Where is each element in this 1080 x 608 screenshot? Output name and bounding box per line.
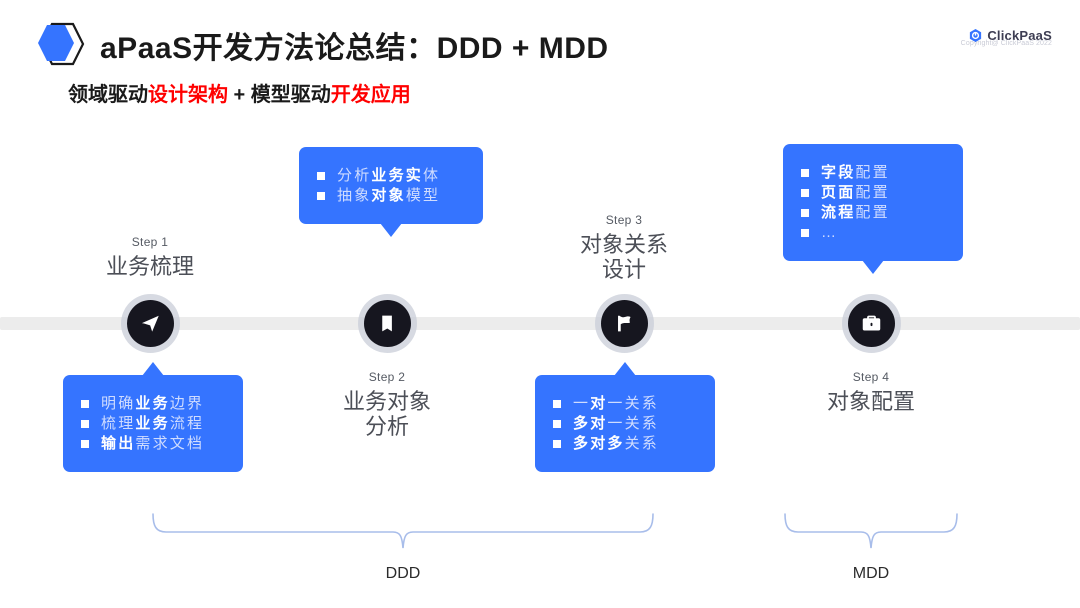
paper-plane-icon: [140, 313, 161, 334]
bullet-icon: [81, 400, 89, 408]
step-title-step-2-line2: 分析: [287, 414, 487, 439]
slide-canvas: aPaaS开发方法论总结：DDD + MDD 领域驱动设计架构 + 模型驱动开发…: [0, 0, 1080, 608]
timeline-node-step-4[interactable]: [848, 300, 895, 347]
bullet-icon: [553, 400, 561, 408]
callout-item: 输出需求文档: [81, 436, 223, 451]
step-title-step-2-line1: 业务对象: [287, 389, 487, 414]
step-title-step-3: 对象关系 设计: [524, 232, 724, 283]
step-title-step-3-line1: 对象关系: [524, 232, 724, 257]
bullet-icon: [801, 229, 809, 237]
bullet-icon: [317, 172, 325, 180]
callout-step-2[interactable]: 分析业务实体 抽象对象模型: [299, 147, 483, 224]
callout-item: 明确业务边界: [81, 396, 223, 411]
callout-text: 多对一关系: [573, 416, 659, 431]
step-number-step-1: Step 1: [50, 235, 250, 249]
callout-step-3[interactable]: 一对一关系 多对一关系 多对多关系: [535, 375, 715, 472]
callout-text: 一对一关系: [573, 396, 659, 411]
step-label-step-1: Step 1 业务梳理: [50, 235, 250, 279]
bullet-icon: [81, 420, 89, 428]
subtitle-part-1: 设计架构: [148, 84, 228, 106]
bullet-icon: [317, 192, 325, 200]
step-label-step-4: Step 4 对象配置: [771, 370, 971, 414]
callout-text: 明确业务边界: [101, 396, 204, 411]
brand-copyright: Copyright@ ClickPaaS 2022: [961, 40, 1052, 47]
callout-step-4[interactable]: 字段配置 页面配置 流程配置 …: [783, 144, 963, 261]
callout-text: 抽象对象模型: [337, 188, 440, 203]
callout-text: 输出需求文档: [101, 436, 204, 451]
callout-item: 梳理业务流程: [81, 416, 223, 431]
step-title-step-3-line2: 设计: [524, 257, 724, 282]
brace-ddd: [150, 512, 656, 552]
brace-mdd: [782, 512, 960, 552]
bullet-icon: [553, 420, 561, 428]
callout-item: 抽象对象模型: [317, 188, 463, 203]
bullet-icon: [801, 209, 809, 217]
brace-label-mdd: MDD: [771, 565, 971, 583]
callout-tail: [614, 362, 636, 376]
brace-label-ddd: DDD: [303, 565, 503, 583]
callout-item: 字段配置: [801, 165, 943, 180]
step-label-step-3: Step 3 对象关系 设计: [524, 213, 724, 283]
step-number-step-2: Step 2: [287, 370, 487, 384]
callout-text: 页面配置: [821, 185, 890, 200]
step-number-step-4: Step 4: [771, 370, 971, 384]
subtitle-part-2: + 模型驱动: [228, 84, 331, 106]
callout-item: …: [801, 225, 943, 240]
subtitle-part-0: 领域驱动: [68, 84, 148, 106]
bullet-icon: [553, 440, 561, 448]
brand-logo: ClickPaaS Copyright@ ClickPaaS 2022: [961, 28, 1052, 47]
timeline-node-step-3[interactable]: [601, 300, 648, 347]
bullet-icon: [81, 440, 89, 448]
callout-text: 分析业务实体: [337, 168, 440, 183]
callout-item: 多对多关系: [553, 436, 695, 451]
page-subtitle: 领域驱动设计架构 + 模型驱动开发应用: [68, 78, 411, 107]
callout-text: …: [821, 225, 838, 240]
callout-item: 流程配置: [801, 205, 943, 220]
callout-tail: [142, 362, 164, 376]
step-label-step-2: Step 2 业务对象 分析: [287, 370, 487, 440]
callout-item: 分析业务实体: [317, 168, 463, 183]
callout-text: 流程配置: [821, 205, 890, 220]
callout-step-1[interactable]: 明确业务边界 梳理业务流程 输出需求文档: [63, 375, 243, 472]
flag-icon: [614, 313, 635, 334]
book-icon: [377, 313, 398, 334]
callout-item: 一对一关系: [553, 396, 695, 411]
subtitle-part-3: 开发应用: [331, 84, 411, 106]
callout-text: 字段配置: [821, 165, 890, 180]
timeline-node-step-1[interactable]: [127, 300, 174, 347]
timeline-node-step-2[interactable]: [364, 300, 411, 347]
callout-item: 页面配置: [801, 185, 943, 200]
callout-text: 多对多关系: [573, 436, 659, 451]
bullet-icon: [801, 189, 809, 197]
callout-tail: [862, 260, 884, 274]
step-title-step-2: 业务对象 分析: [287, 389, 487, 440]
step-number-step-3: Step 3: [524, 213, 724, 227]
page-title: aPaaS开发方法论总结：DDD + MDD: [100, 23, 609, 67]
hexagon-logo-icon: [33, 20, 87, 68]
callout-item: 多对一关系: [553, 416, 695, 431]
callout-tail: [380, 223, 402, 237]
briefcase-icon: [861, 313, 882, 334]
step-title-step-1: 业务梳理: [50, 254, 250, 279]
bullet-icon: [801, 169, 809, 177]
callout-text: 梳理业务流程: [101, 416, 204, 431]
step-title-step-4: 对象配置: [771, 389, 971, 414]
